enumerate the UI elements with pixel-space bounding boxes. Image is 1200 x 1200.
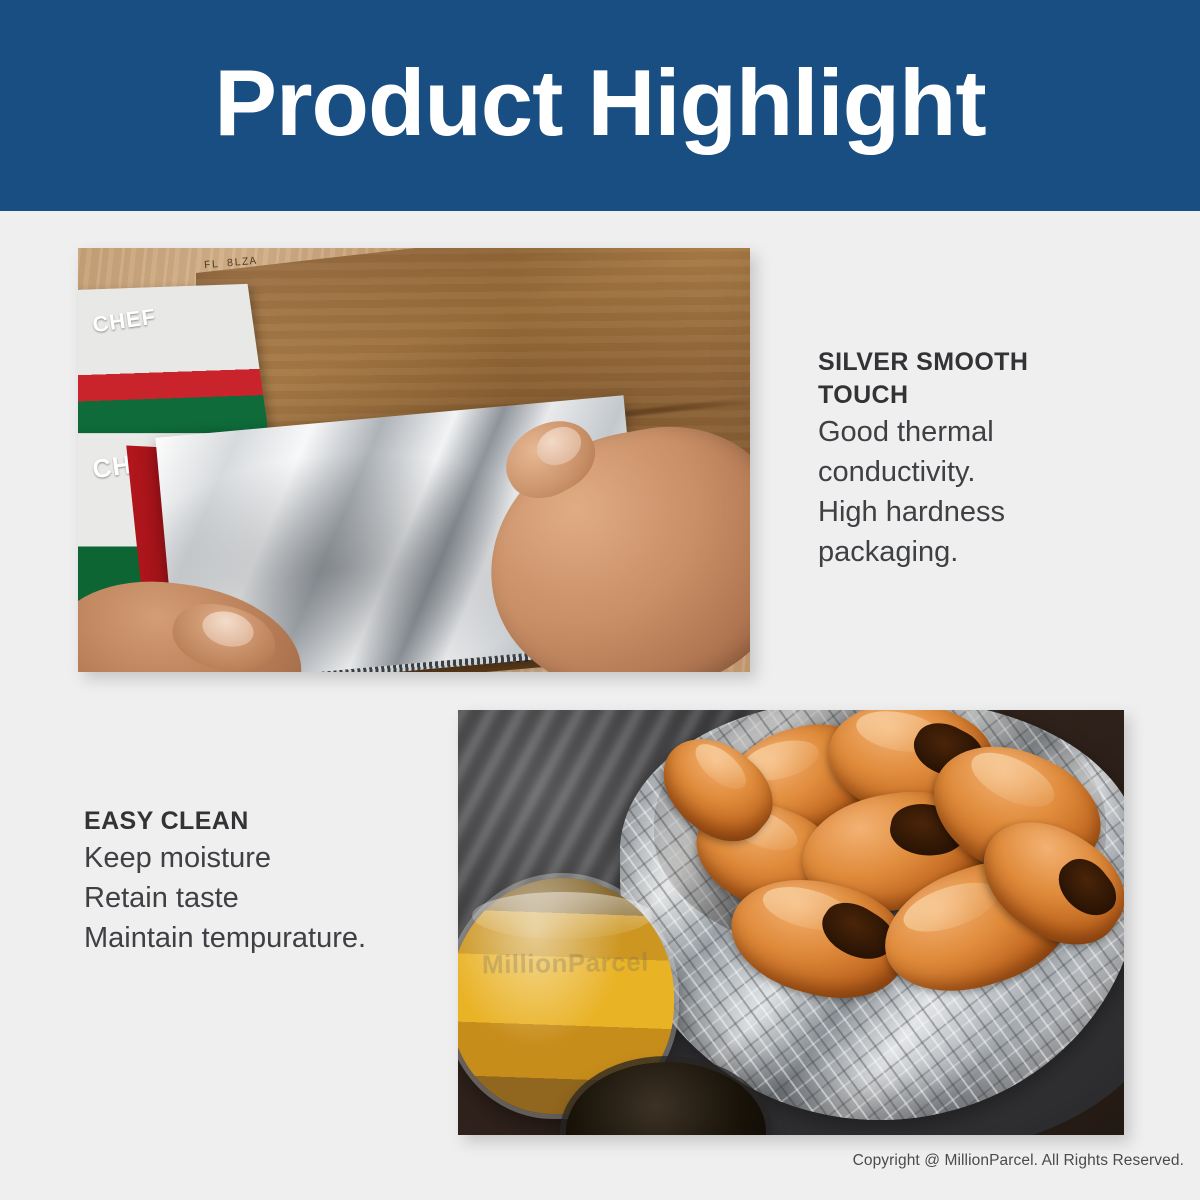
feature-silver-smooth-touch: SILVER SMOOTH TOUCH Good thermal conduct… xyxy=(818,346,1118,572)
feature-line: packaging. xyxy=(818,532,1118,572)
copyright-notice: Copyright @ MillionParcel. All Rights Re… xyxy=(853,1152,1184,1170)
feature-heading: EASY CLEAN xyxy=(84,805,504,838)
feature-line: Retain taste xyxy=(84,878,504,918)
feature-description: Good thermal conductivity. High hardness… xyxy=(818,412,1118,572)
feature-line: Keep moisture xyxy=(84,838,504,878)
page-title: Product Highlight xyxy=(214,56,985,156)
feature-line: conductivity. xyxy=(818,452,1118,492)
page-header-banner: Product Highlight xyxy=(0,0,1200,211)
feature-description: Keep moisture Retain taste Maintain temp… xyxy=(84,838,504,958)
feature-line: Good thermal xyxy=(818,412,1118,452)
feature-line: High hardness xyxy=(818,492,1118,532)
feature-easy-clean: EASY CLEAN Keep moisture Retain taste Ma… xyxy=(84,805,504,958)
product-photo-foil-box: FL 8LZA MillionParcel CHEF CHEF xyxy=(78,248,750,672)
product-photo-chicken-wings: MillionParcel xyxy=(458,710,1124,1135)
feature-heading: SILVER SMOOTH TOUCH xyxy=(818,346,1118,412)
feature-line: Maintain tempurature. xyxy=(84,918,504,958)
